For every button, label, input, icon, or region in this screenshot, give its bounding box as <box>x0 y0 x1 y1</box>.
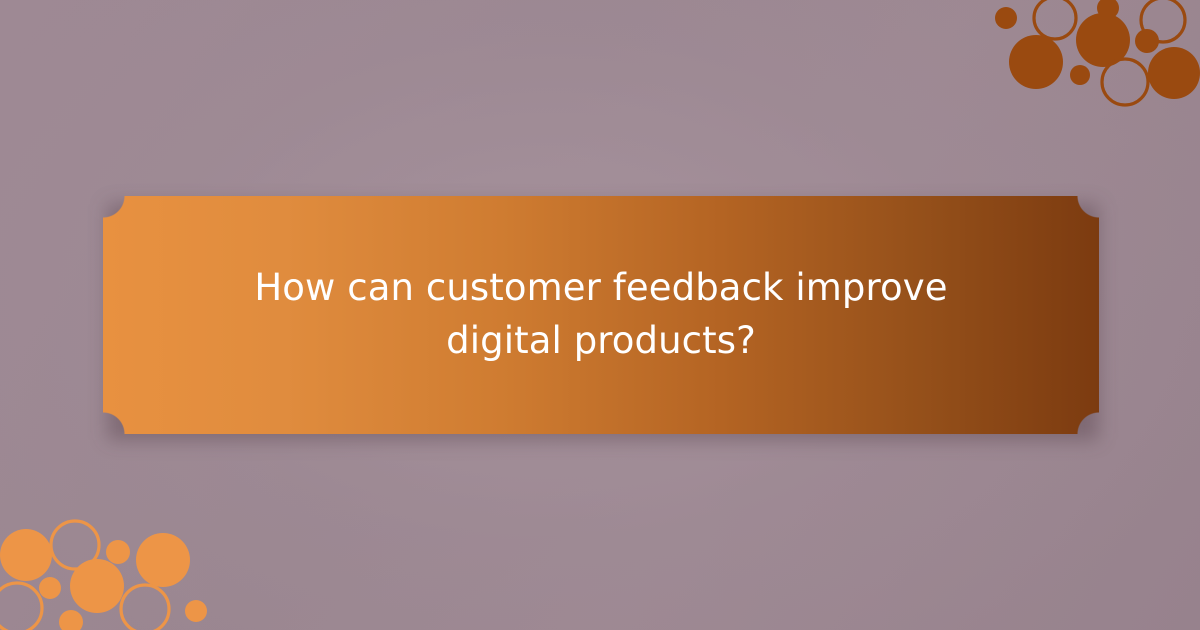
question-card: How can customer feedback improve digita… <box>103 196 1099 434</box>
decorative-circles <box>995 0 1200 105</box>
circle-outline <box>1034 0 1076 39</box>
card-title: How can customer feedback improve digita… <box>103 262 1099 367</box>
circle-outline <box>121 585 169 630</box>
circle-filled <box>39 577 61 599</box>
circle-filled <box>1097 0 1119 19</box>
circle-outline <box>1141 0 1185 42</box>
circle-filled <box>1070 65 1090 85</box>
circle-filled <box>185 600 207 622</box>
circle-filled <box>70 559 124 613</box>
circle-outline <box>51 521 99 569</box>
circle-outline <box>0 583 42 630</box>
circle-filled <box>1009 35 1063 89</box>
circle-filled <box>995 7 1017 29</box>
circle-filled <box>136 533 190 587</box>
circle-filled <box>106 540 130 564</box>
circle-filled <box>1076 13 1130 67</box>
circle-filled <box>59 610 83 630</box>
circle-filled <box>1148 47 1200 99</box>
circle-filled <box>0 529 52 581</box>
circle-cluster-bottom-left <box>0 510 235 630</box>
circle-cluster-top-right-svg <box>980 0 1200 120</box>
circle-cluster-bottom-left-svg <box>0 510 235 630</box>
screenshot-canvas: How can customer feedback improve digita… <box>0 0 1200 630</box>
circle-filled <box>1135 29 1159 53</box>
decorative-circles <box>0 521 207 630</box>
circle-cluster-top-right <box>980 0 1200 120</box>
circle-outline <box>1102 59 1148 105</box>
